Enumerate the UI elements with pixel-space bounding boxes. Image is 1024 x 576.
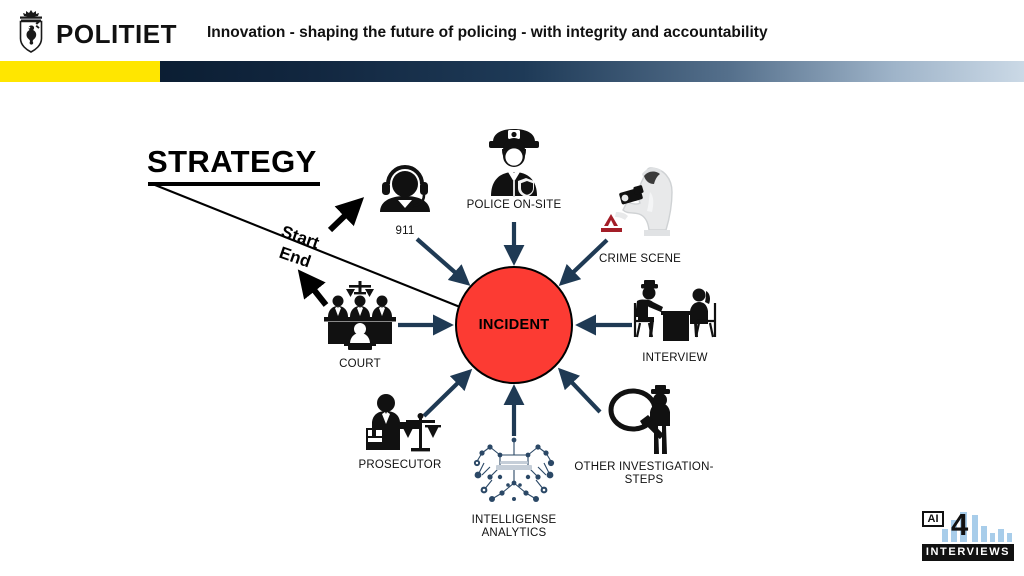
node-prosecutor-label: PROSECUTOR bbox=[340, 459, 460, 472]
slide-root: POLITIET Innovation - shaping the future… bbox=[0, 0, 1024, 576]
interviews-word: INTERVIEWS bbox=[922, 544, 1014, 561]
node-911[interactable]: 911 bbox=[367, 162, 443, 238]
network-brain-icon bbox=[467, 435, 561, 513]
headset-operator-icon bbox=[374, 162, 436, 224]
node-other-investigation-steps-label: OTHER INVESTIGATION-STEPS bbox=[563, 461, 725, 487]
start-arrow bbox=[330, 203, 358, 230]
strategy-title: STRATEGY bbox=[147, 144, 317, 180]
accent-bar-yellow bbox=[0, 61, 160, 82]
politiet-wordmark: POLITIET bbox=[56, 19, 177, 50]
node-court-label: COURT bbox=[310, 358, 410, 371]
incident-label: INCIDENT bbox=[479, 317, 550, 333]
accent-bar-gradient bbox=[160, 61, 1024, 82]
node-interview[interactable]: INTERVIEW bbox=[620, 277, 730, 365]
diagram-canvas: STRATEGY Start End INCIDENT 911 bbox=[0, 82, 1024, 576]
courtroom-judges-icon bbox=[322, 279, 398, 357]
node-interview-label: INTERVIEW bbox=[620, 352, 730, 365]
arrow-911-to-incident bbox=[417, 239, 466, 282]
node-intelligence-analytics-label: INTELLIGENSE ANALYTICS bbox=[444, 514, 584, 540]
detective-magnifier-icon bbox=[604, 382, 684, 460]
node-911-label: 911 bbox=[367, 225, 443, 238]
police-officer-icon bbox=[481, 126, 547, 198]
strategy-underline bbox=[148, 182, 320, 186]
interview-table-icon bbox=[627, 277, 723, 351]
node-crime-scene[interactable]: CRIME SCENE bbox=[570, 160, 710, 266]
node-court[interactable]: COURT bbox=[310, 279, 410, 371]
forensic-investigator-icon bbox=[592, 160, 688, 252]
ai-badge: AI bbox=[922, 511, 944, 527]
node-other-investigation-steps[interactable]: OTHER INVESTIGATION-STEPS bbox=[563, 382, 725, 487]
node-intelligence-analytics[interactable]: INTELLIGENSE ANALYTICS bbox=[444, 435, 584, 540]
node-police-on-site[interactable]: POLICE ON-SITE bbox=[444, 126, 584, 212]
node-police-on-site-label: POLICE ON-SITE bbox=[444, 199, 584, 212]
node-prosecutor[interactable]: PROSECUTOR bbox=[340, 392, 460, 472]
prosecutor-scales-icon bbox=[354, 392, 446, 458]
norwegian-coat-of-arms-icon bbox=[10, 9, 52, 53]
logo-number: 4 bbox=[951, 508, 968, 542]
incident-node[interactable]: INCIDENT bbox=[455, 266, 573, 384]
page-title: Innovation - shaping the future of polic… bbox=[207, 24, 768, 42]
ai4interviews-logo: AI 4 INTERVIEWS bbox=[922, 508, 1014, 566]
node-crime-scene-label: CRIME SCENE bbox=[570, 253, 710, 266]
slide-header: POLITIET Innovation - shaping the future… bbox=[0, 0, 1024, 60]
